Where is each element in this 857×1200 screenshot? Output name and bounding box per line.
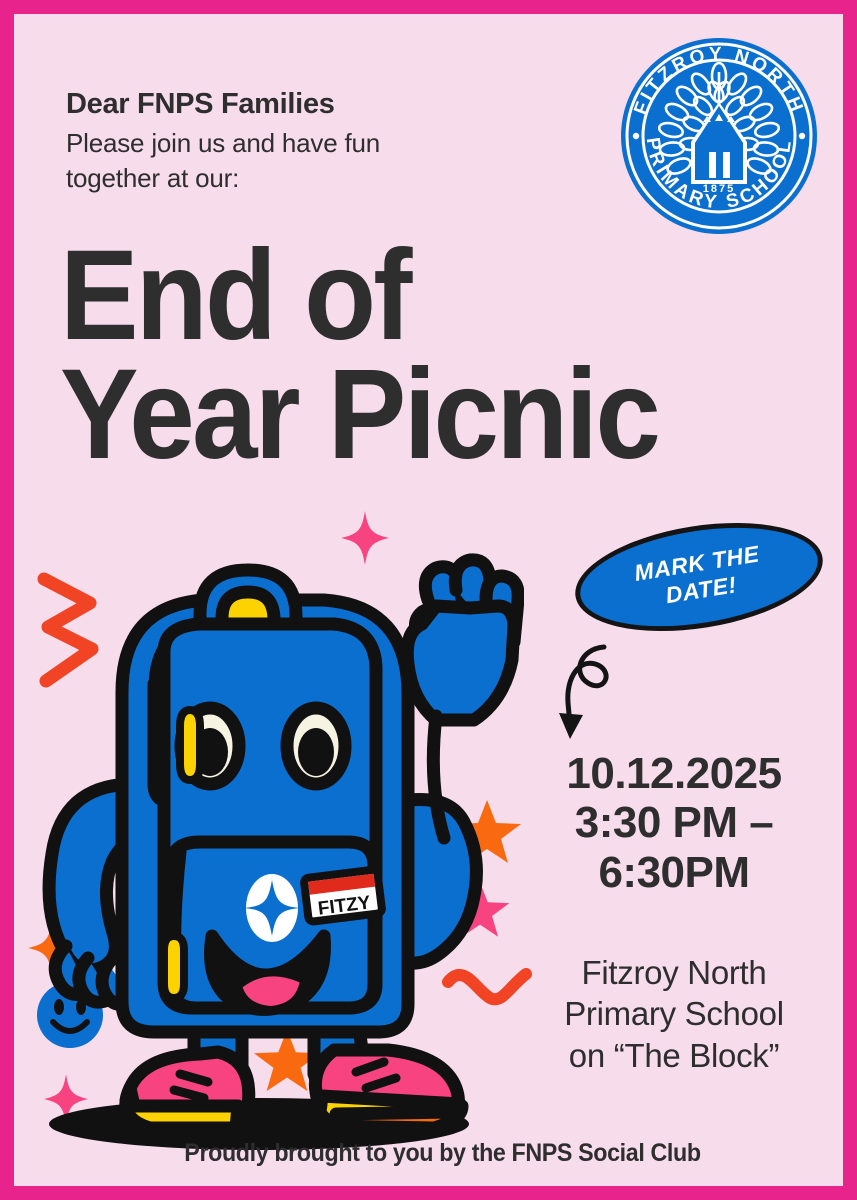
poster-root: Dear FNPS Families Please join us and ha… (0, 0, 857, 1200)
greeting-body-line-2: together at our: (66, 161, 496, 195)
event-venue: Fitzroy North Primary School on “The Blo… (504, 952, 843, 1076)
mark-the-date-badge: MARK THE DATE! (574, 526, 824, 636)
curly-arrow-icon (558, 639, 638, 749)
greeting-salutation: Dear FNPS Families (66, 86, 496, 122)
venue-line-3: on “The Block” (504, 1035, 843, 1076)
greeting-body-line-1: Please join us and have fun (66, 126, 496, 160)
page-title: End of Year Picnic (60, 236, 759, 474)
logo-established-year: 1875 (703, 183, 735, 195)
event-time-line-1: 3:30 PM – (514, 798, 834, 847)
school-logo: FITZROY NORTH PRIMARY SCHOOL (615, 32, 823, 240)
badge-text: MARK THE DATE! (568, 507, 831, 647)
event-date: 10.12.2025 (514, 749, 834, 798)
venue-line-1: Fitzroy North (504, 952, 843, 993)
poster-inner-panel: Dear FNPS Families Please join us and ha… (14, 14, 843, 1186)
greeting-block: Dear FNPS Families Please join us and ha… (66, 86, 496, 195)
footer-credit: Proudly brought to you by the FNPS Socia… (57, 1139, 828, 1168)
headline-line-1: End of (60, 236, 759, 355)
backpack-mascot: FITZY (14, 484, 524, 1164)
event-datetime: 10.12.2025 3:30 PM – 6:30PM (514, 749, 834, 897)
event-time-line-2: 6:30PM (514, 848, 834, 897)
venue-line-2: Primary School (504, 993, 843, 1034)
headline-line-2: Year Picnic (60, 355, 759, 474)
